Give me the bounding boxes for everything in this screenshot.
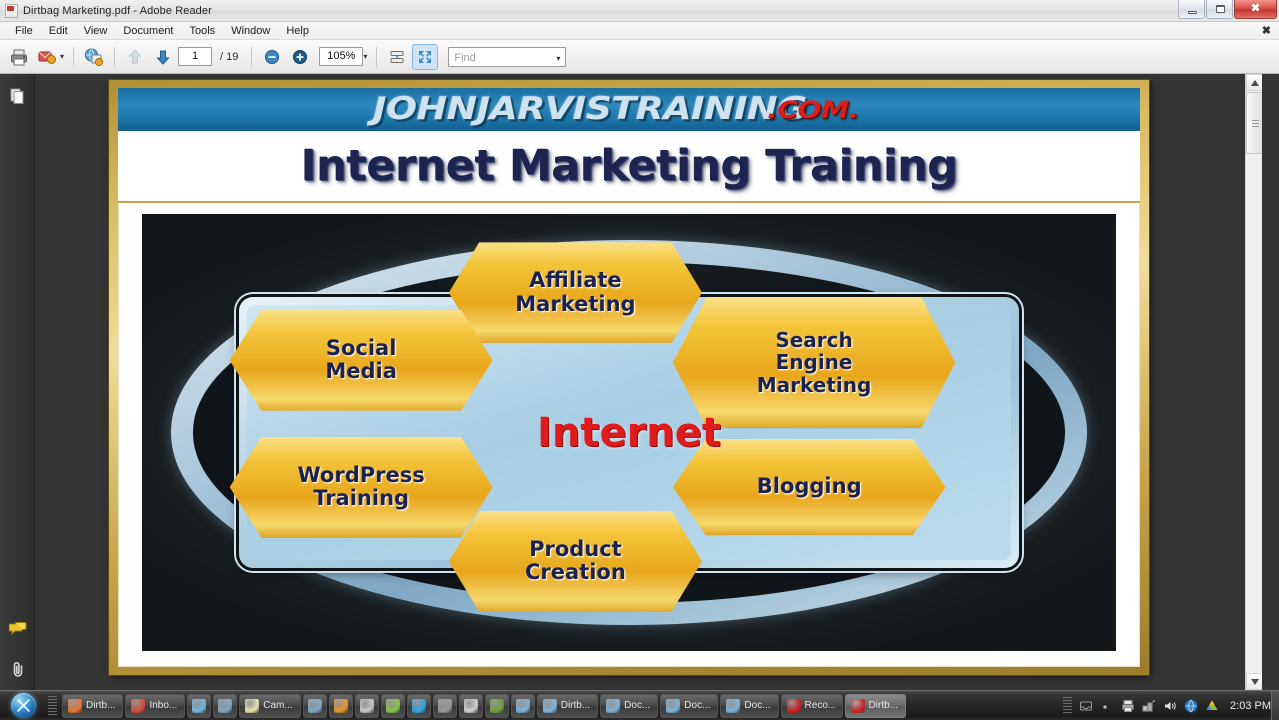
page-thumbnails-icon[interactable] xyxy=(8,86,28,106)
node-line: Search xyxy=(775,328,852,352)
find-input[interactable] xyxy=(449,49,565,67)
node-line: Social xyxy=(326,336,397,360)
sign-button[interactable] xyxy=(81,44,107,70)
navigation-pane xyxy=(0,74,35,690)
image-icon xyxy=(438,699,452,713)
page-number-input[interactable]: 1 xyxy=(178,47,212,66)
pdf-page-content: JOHNJARVISTRAINING.COM. Internet Marketi… xyxy=(118,88,1140,667)
taskbar-item[interactable] xyxy=(433,694,457,718)
taskbar-clock[interactable]: 2:03 PM xyxy=(1230,700,1271,712)
fit-width-button[interactable] xyxy=(384,44,410,70)
scroll-down-button[interactable] xyxy=(1246,673,1262,690)
diagram-node-social-media: Social Media xyxy=(230,310,493,411)
fit-page-button[interactable] xyxy=(412,44,438,70)
find-input-wrap[interactable]: ▾ xyxy=(448,47,566,67)
taskbar-item-label: Doc... xyxy=(624,700,650,711)
window-controls: ✖ xyxy=(1177,0,1277,19)
node-line: Creation xyxy=(525,560,626,584)
taskbar-item-label: Dirtb... xyxy=(561,700,590,711)
taskbar-item-label: Dirtb... xyxy=(869,700,898,711)
taskbar-item[interactable] xyxy=(303,694,327,718)
print-button[interactable] xyxy=(6,44,32,70)
window-title: Dirtbag Marketing.pdf - Adobe Reader xyxy=(23,5,212,17)
scroll-up-button[interactable] xyxy=(1246,74,1262,91)
taskbar-item-label: Inbo... xyxy=(149,700,177,711)
system-tray: 2:03 PM xyxy=(1063,697,1279,715)
maximize-button[interactable] xyxy=(1206,0,1233,19)
show-hidden-icon[interactable] xyxy=(1079,699,1093,713)
document-view[interactable]: JOHNJARVISTRAINING.COM. Internet Marketi… xyxy=(35,74,1262,690)
pdf-page: JOHNJARVISTRAINING.COM. Internet Marketi… xyxy=(109,80,1149,675)
leaf2-icon xyxy=(490,699,504,713)
toolbar-separator-2 xyxy=(114,47,115,67)
vertical-scrollbar[interactable] xyxy=(1245,74,1262,690)
node-line: Media xyxy=(325,359,397,383)
taskbar-item[interactable] xyxy=(511,694,535,718)
taskbar-item-label: Reco... xyxy=(805,700,835,711)
next-page-button[interactable] xyxy=(150,44,176,70)
leaf-icon xyxy=(386,699,400,713)
printer-icon[interactable] xyxy=(1121,699,1135,713)
doc-icon xyxy=(666,699,680,713)
node-line: Product xyxy=(529,537,622,561)
doc-icon xyxy=(516,699,530,713)
media-icon xyxy=(334,699,348,713)
diagram-node-wordpress-training: WordPress Training xyxy=(230,437,493,538)
node-line: Marketing xyxy=(515,292,635,316)
diagram-center-label: Internet xyxy=(537,410,721,456)
menu-bar: File Edit View Document Tools Window Hel… xyxy=(0,22,1279,40)
antivirus-icon[interactable] xyxy=(1184,699,1198,713)
node-line: Blogging xyxy=(757,474,862,498)
taskbar-item[interactable]: Dirtb... xyxy=(537,694,598,718)
show-desktop-button[interactable] xyxy=(1271,691,1279,720)
taskbar-item[interactable] xyxy=(329,694,353,718)
acrobat-icon xyxy=(851,699,865,713)
previous-page-button[interactable] xyxy=(122,44,148,70)
menu-item-edit[interactable]: Edit xyxy=(41,24,76,38)
diagram-node-product-creation: Product Creation xyxy=(449,511,702,612)
doc-icon xyxy=(606,699,620,713)
zoom-out-button[interactable] xyxy=(259,44,285,70)
email-button[interactable] xyxy=(34,44,60,70)
page-title: Internet Marketing Training xyxy=(301,141,958,191)
node-line: WordPress xyxy=(298,463,425,487)
site-banner: JOHNJARVISTRAINING.COM. xyxy=(118,88,1140,131)
menu-item-window[interactable]: Window xyxy=(223,24,278,38)
skype-icon xyxy=(412,699,426,713)
menu-item-help[interactable]: Help xyxy=(278,24,317,38)
taskbar-item[interactable] xyxy=(187,694,211,718)
calc-icon xyxy=(360,699,374,713)
taskbar-item[interactable] xyxy=(355,694,379,718)
chrome-icon xyxy=(131,699,145,713)
explorer-icon xyxy=(192,699,206,713)
internet-marketing-diagram: Internet Affiliate Marketing Social M xyxy=(142,214,1116,651)
taskbar-item-label: Dirtb... xyxy=(86,700,115,711)
page-total-label: / 19 xyxy=(220,51,238,63)
menu-item-tools[interactable]: Tools xyxy=(182,24,224,38)
close-button[interactable]: ✖ xyxy=(1234,0,1277,19)
photos-icon xyxy=(308,699,322,713)
volume-icon[interactable] xyxy=(1163,699,1177,713)
zoom-in-button[interactable] xyxy=(287,44,313,70)
taskbar-items: Dirtb...Inbo...Cam...Dirtb...Doc...Doc..… xyxy=(60,694,906,718)
diagram-node-search-engine-marketing: Search Engine Marketing xyxy=(673,297,955,428)
taskbar-item[interactable]: Doc... xyxy=(720,694,778,718)
doc-icon xyxy=(726,699,740,713)
taskbar-item-label: Doc... xyxy=(684,700,710,711)
start-button[interactable] xyxy=(1,692,45,720)
banner-name-text: JOHNJARVISTRAINING xyxy=(373,94,807,125)
taskbar-grip[interactable] xyxy=(48,696,57,716)
taskbar-item[interactable] xyxy=(459,694,483,718)
camtasia-icon xyxy=(787,699,801,713)
scrollbar-grip xyxy=(1252,120,1259,127)
drive-icon[interactable] xyxy=(1205,699,1219,713)
pdf-file-icon xyxy=(5,4,18,18)
taskbar: Dirtb...Inbo...Cam...Dirtb...Doc...Doc..… xyxy=(0,690,1279,720)
taskbar-item[interactable]: Inbo... xyxy=(125,694,185,718)
node-line: Training xyxy=(313,486,409,510)
taskbar-item[interactable]: Reco... xyxy=(781,694,843,718)
taskbar-item[interactable] xyxy=(213,694,237,718)
node-line: Engine xyxy=(776,350,853,374)
email-dropdown-caret[interactable]: ▾ xyxy=(60,52,64,61)
taskbar-item-label: Doc... xyxy=(744,700,770,711)
menu-item-document[interactable]: Document xyxy=(115,24,181,38)
node-line: Marketing xyxy=(757,373,872,397)
taskbar-item[interactable]: Doc... xyxy=(600,694,658,718)
zoom-level-input[interactable]: 105% xyxy=(319,47,363,66)
title-bar: Dirtbag Marketing.pdf - Adobe Reader ✖ xyxy=(0,0,1279,22)
network-icon[interactable] xyxy=(1142,699,1156,713)
comments-icon[interactable] xyxy=(8,619,28,639)
toolbar: ▾ 1 / 19 xyxy=(0,40,1279,74)
doc-icon xyxy=(543,699,557,713)
adobe-reader-window: Dirtbag Marketing.pdf - Adobe Reader ✖ F… xyxy=(0,0,1279,720)
windows-start-orb-icon xyxy=(11,693,36,718)
main-area: JOHNJARVISTRAINING.COM. Internet Marketi… xyxy=(0,74,1279,690)
toolbar-separator-4 xyxy=(376,47,377,67)
taskbar-item[interactable] xyxy=(381,694,405,718)
taskbar-item[interactable] xyxy=(485,694,509,718)
menu-item-view[interactable]: View xyxy=(76,24,116,38)
tray-grip[interactable] xyxy=(1063,697,1072,715)
zoom-dropdown-caret[interactable]: ▾ xyxy=(363,52,367,61)
attachments-icon[interactable] xyxy=(8,659,28,679)
taskbar-item[interactable]: Dirtb... xyxy=(62,694,123,718)
close-document-button[interactable]: ✖ xyxy=(1262,24,1271,37)
node-line: Affiliate xyxy=(529,268,622,292)
caret-up-icon[interactable] xyxy=(1100,699,1114,713)
taskbar-item[interactable]: Doc... xyxy=(660,694,718,718)
taskbar-item[interactable] xyxy=(407,694,431,718)
find-dropdown-caret[interactable]: ▾ xyxy=(556,54,560,63)
taskbar-item[interactable]: Cam... xyxy=(239,694,300,718)
toolbar-separator-1 xyxy=(73,47,74,67)
taskbar-item[interactable]: Dirtb... xyxy=(845,694,906,718)
taskbar-item-label: Cam... xyxy=(263,700,292,711)
firefox-icon xyxy=(68,699,82,713)
form-icon xyxy=(464,699,478,713)
notepad-icon xyxy=(245,699,259,713)
minimize-button[interactable] xyxy=(1178,0,1205,19)
scrollbar-thumb[interactable] xyxy=(1246,92,1262,154)
pin-icon xyxy=(218,699,232,713)
banner-tld-text: .COM. xyxy=(767,98,859,122)
toolbar-separator-3 xyxy=(251,47,252,67)
page-title-area: Internet Marketing Training xyxy=(118,131,1140,203)
menu-item-file[interactable]: File xyxy=(7,24,41,38)
diagram-node-affiliate-marketing: Affiliate Marketing xyxy=(449,242,702,343)
